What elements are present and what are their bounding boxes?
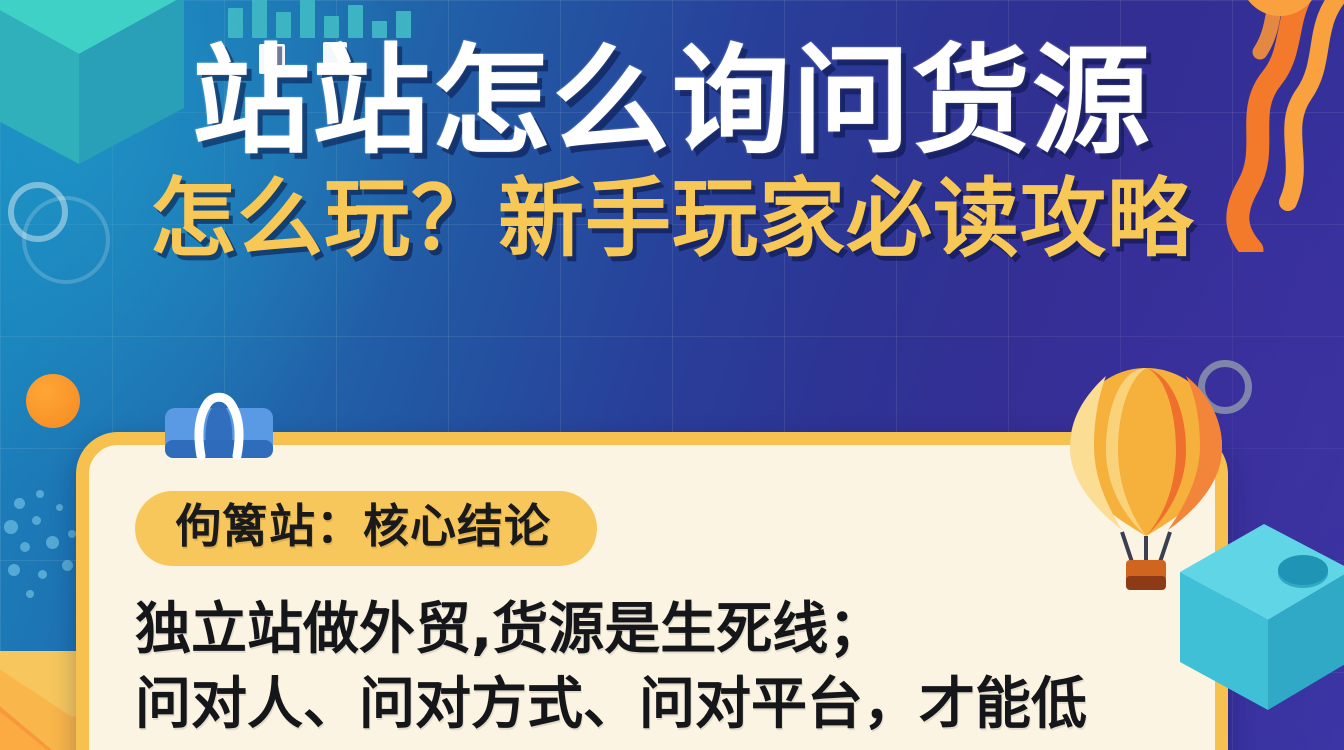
- card-badge: 佝篱站：核心结论: [135, 491, 597, 566]
- card-body-line-2: 问对人、问对方式、问对平台，才能低: [135, 667, 1175, 742]
- orange-dot-icon: [26, 374, 80, 428]
- ring-grey-icon: [1198, 360, 1252, 414]
- header-block: 站站怎么询问货源 怎么玩？新手玩家必读攻略: [0, 42, 1344, 262]
- page-title: 站站怎么询问货源: [0, 42, 1344, 160]
- page-subtitle: 怎么玩？新手玩家必读攻略: [0, 176, 1344, 262]
- card-body: 独立站做外贸,货源是生死线； 问对人、问对方式、问对平台，才能低: [135, 592, 1175, 742]
- poster-canvas: 站站怎么询问货源 怎么玩？新手玩家必读攻略 佝篱站：核心结论 独立站做外贸,货源…: [0, 0, 1344, 750]
- content-card: 佝篱站：核心结论 独立站做外贸,货源是生死线； 问对人、问对方式、问对平台，才能…: [76, 432, 1228, 750]
- card-body-line-1: 独立站做外贸,货源是生死线；: [135, 592, 1175, 667]
- binder-clip-icon: [163, 382, 275, 460]
